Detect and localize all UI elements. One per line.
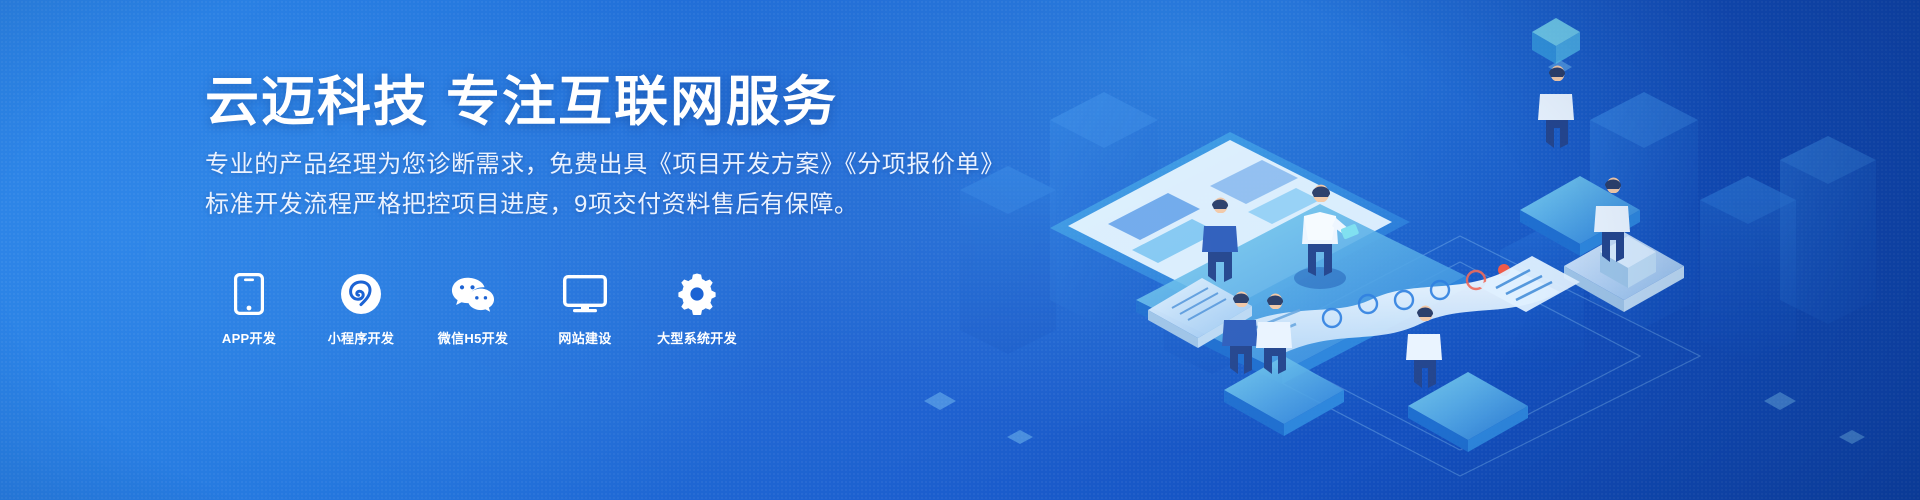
gear-icon (675, 272, 719, 316)
service-item-wechat[interactable]: 微信H5开发 (431, 272, 515, 347)
service-label: 大型系统开发 (657, 328, 737, 347)
service-item-app[interactable]: APP开发 (207, 272, 291, 347)
service-label: APP开发 (222, 328, 276, 347)
mini-program-icon (339, 272, 383, 316)
banner-subtitle: 专业的产品经理为您诊断需求，免费出具《项目开发方案》《分项报价单》 标准开发流程… (205, 145, 1005, 225)
promo-banner: 云迈科技 专注互联网服务 专业的产品经理为您诊断需求，免费出具《项目开发方案》《… (0, 0, 1920, 500)
service-label: 微信H5开发 (438, 328, 508, 347)
service-item-website[interactable]: 网站建设 (543, 272, 627, 347)
page-title: 云迈科技 专注互联网服务 (205, 73, 838, 132)
mobile-phone-icon (227, 272, 271, 316)
service-label: 小程序开发 (328, 328, 395, 347)
service-list: APP开发 小程序开发 (207, 272, 739, 347)
subtitle-line-2: 标准开发流程严格把控项目进度，9项交付资料售后有保障。 (205, 185, 1005, 225)
banner-copy: 云迈科技 专注互联网服务 专业的产品经理为您诊断需求，免费出具《项目开发方案》《… (205, 0, 925, 500)
isometric-illustration (900, 0, 1920, 500)
service-label: 网站建设 (558, 328, 611, 347)
wechat-icon (451, 272, 495, 316)
monitor-icon (563, 272, 607, 316)
service-item-large-system[interactable]: 大型系统开发 (655, 272, 739, 347)
service-item-mini-program[interactable]: 小程序开发 (319, 272, 403, 347)
subtitle-line-1: 专业的产品经理为您诊断需求，免费出具《项目开发方案》《分项报价单》 (205, 145, 1005, 185)
